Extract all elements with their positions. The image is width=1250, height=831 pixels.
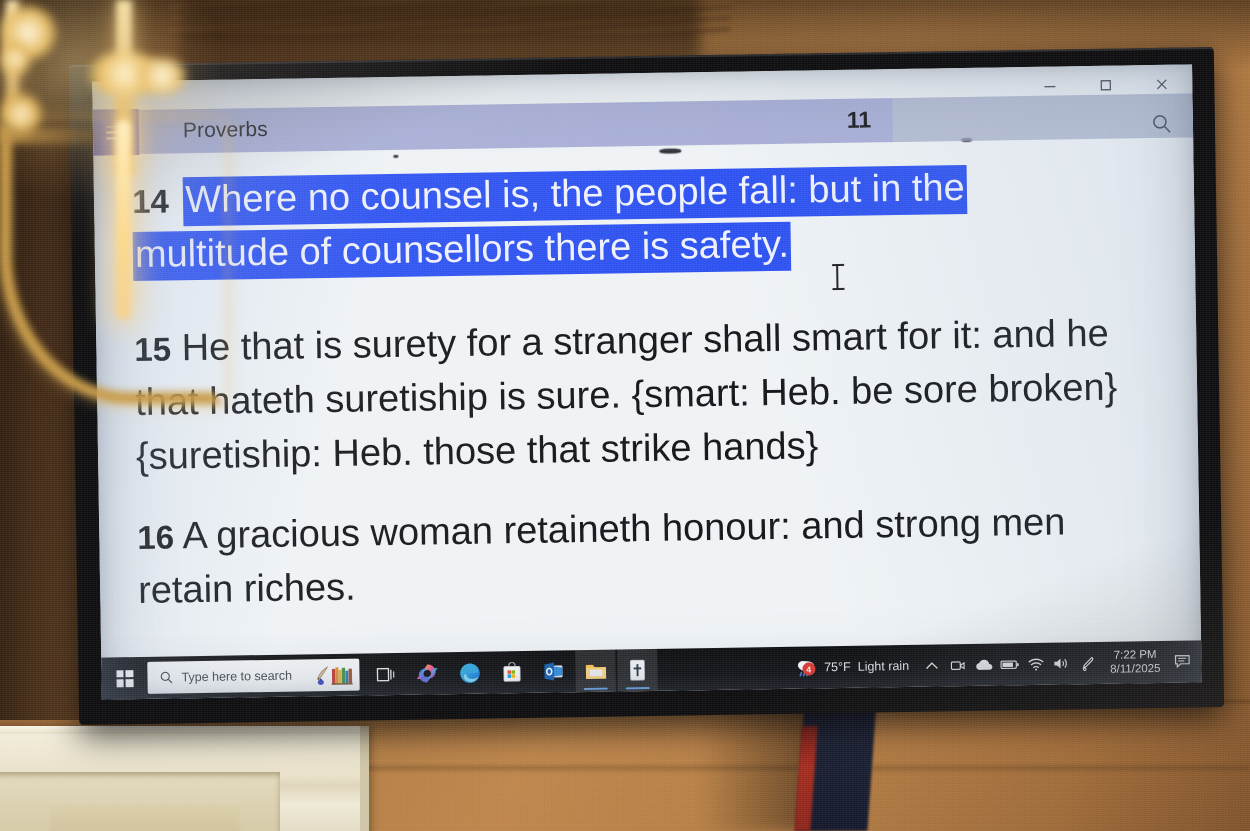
quill-pen-icon: [314, 666, 329, 685]
active-indicator: [584, 688, 608, 690]
verse-number: 16: [137, 518, 174, 556]
store-icon: [501, 661, 522, 682]
search-illustration: [314, 665, 353, 685]
file-explorer-button[interactable]: [575, 650, 616, 693]
tv-screen: Proverbs 11 14 Where no counsel is, the …: [92, 64, 1202, 699]
book-title[interactable]: Proverbs: [183, 118, 268, 143]
outlook-icon: [542, 660, 564, 682]
bible-app-button[interactable]: [617, 649, 658, 692]
speaker-icon: [1053, 656, 1070, 670]
bible-app-window: Proverbs 11 14 Where no counsel is, the …: [92, 64, 1202, 699]
active-indicator: [626, 687, 650, 689]
selected-text-line-1: Where no counsel is, the people fall: bu…: [183, 165, 967, 226]
chapter-number[interactable]: 11: [847, 106, 872, 133]
weather-condition: Light rain: [858, 659, 910, 674]
copilot-button[interactable]: [407, 652, 448, 695]
onedrive-tray-button[interactable]: [971, 644, 998, 686]
search-icon[interactable]: [1151, 113, 1173, 140]
search-input[interactable]: Type here to search: [147, 659, 359, 694]
photo-scene: Proverbs 11 14 Where no counsel is, the …: [0, 0, 1250, 831]
show-hidden-icons-button[interactable]: [919, 644, 946, 686]
weather-temperature: 75°F: [824, 660, 851, 674]
windows-logo-icon: [116, 670, 133, 687]
system-tray: 4 75°F Light rain: [785, 640, 1202, 689]
verse-16[interactable]: 16 A gracious woman retaineth honour: an…: [137, 495, 1167, 619]
text-cursor-icon: [832, 264, 844, 290]
clock-time: 7:22 PM: [1114, 648, 1157, 663]
taskbar-buttons: [365, 649, 658, 696]
edge-button[interactable]: [449, 652, 490, 695]
window-titlebar: [872, 64, 1193, 109]
pen-icon: [1081, 655, 1095, 670]
chevron-up-icon: [926, 661, 939, 670]
search-icon: [159, 670, 173, 684]
wifi-icon: [1027, 657, 1044, 670]
notification-icon: [1174, 653, 1192, 669]
clipped-text-remnant: [393, 155, 398, 158]
door-molding: [0, 726, 369, 831]
door-molding-panel: [50, 806, 240, 831]
battery-icon: [1001, 659, 1020, 670]
books-icon: [331, 665, 353, 684]
battery-tray-button[interactable]: [997, 643, 1024, 685]
scripture-text-area[interactable]: 14 Where no counsel is, the people fall:…: [93, 140, 1201, 699]
minimize-icon[interactable]: [1036, 75, 1062, 95]
selected-text-line-2: multitude of counsellors there is safety…: [133, 222, 792, 281]
camera-tray-button[interactable]: [945, 644, 972, 686]
verse-14[interactable]: 14 Where no counsel is, the people fall:…: [132, 159, 1162, 283]
hamburger-menu-icon[interactable]: [93, 109, 140, 156]
verse-number: 15: [134, 330, 171, 368]
clipped-text-remnant: [659, 148, 681, 153]
outlook-button[interactable]: [533, 650, 574, 693]
volume-tray-button[interactable]: [1049, 642, 1076, 684]
weather-widget[interactable]: 4 75°F Light rain: [785, 656, 919, 678]
camera-icon: [951, 659, 966, 672]
verse-number: 14: [132, 182, 169, 220]
bible-book-icon: [627, 658, 647, 682]
verse-text: A gracious woman retaineth honour: and s…: [138, 501, 1066, 612]
door-molding-highlight: [0, 726, 360, 734]
edge-icon: [458, 661, 481, 684]
notification-center-button[interactable]: [1169, 640, 1198, 682]
wall-mounted-tv: Proverbs 11 14 Where no counsel is, the …: [69, 47, 1224, 725]
pen-menu-button[interactable]: [1075, 642, 1102, 684]
task-view-button[interactable]: [365, 653, 406, 696]
network-tray-button[interactable]: [1023, 643, 1050, 685]
start-button[interactable]: [101, 657, 148, 700]
folder-icon: [584, 661, 607, 681]
hamburger-lines: [106, 126, 126, 139]
search-placeholder: Type here to search: [181, 668, 306, 684]
taskbar-clock[interactable]: 7:22 PM 8/11/2025: [1101, 647, 1170, 677]
copilot-icon: [415, 661, 439, 685]
maximize-icon[interactable]: [1092, 75, 1118, 95]
close-icon[interactable]: [1148, 74, 1174, 94]
verse-15[interactable]: 15 He that is surety for a stranger shal…: [134, 307, 1164, 485]
task-view-icon: [376, 665, 395, 682]
weather-badge: 4: [802, 662, 815, 675]
microsoft-store-button[interactable]: [491, 651, 532, 694]
clock-date: 8/11/2025: [1110, 662, 1161, 677]
verse-text: He that is surety for a stranger shall s…: [135, 313, 1118, 478]
cloud-icon: [975, 659, 993, 671]
